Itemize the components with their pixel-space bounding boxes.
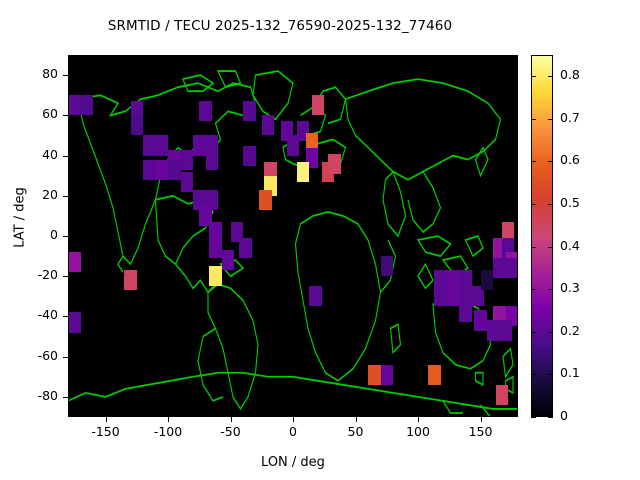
- colorbar-tick: [531, 247, 536, 248]
- x-tick: [231, 417, 232, 422]
- heatmap-cell: [168, 160, 181, 180]
- colorbar-tick-label: 0.8: [560, 67, 580, 82]
- x-tick-label: -100: [138, 424, 198, 439]
- colorbar-tick: [548, 119, 553, 120]
- heatmap-cell: [381, 256, 394, 276]
- y-tick: [63, 236, 68, 237]
- colorbar-tick-label: 0: [560, 408, 568, 423]
- colorbar-tick-label: 0.6: [560, 152, 580, 167]
- y-tick-label: -40: [18, 307, 58, 322]
- heatmap-cell: [381, 365, 394, 385]
- heatmap-cell: [487, 320, 500, 340]
- colorbar-tick: [548, 332, 553, 333]
- heatmap-cell: [81, 95, 94, 115]
- colorbar-tick: [548, 289, 553, 290]
- page-title: SRMTID / TECU 2025-132_76590-2025-132_77…: [0, 18, 560, 34]
- heatmap-cell: [68, 95, 81, 115]
- x-tick-label: 50: [326, 424, 386, 439]
- heatmap-cell: [206, 150, 219, 170]
- heatmap-cell: [428, 365, 441, 385]
- x-tick-label: -50: [201, 424, 261, 439]
- y-tick: [63, 196, 68, 197]
- colorbar-tick: [548, 247, 553, 248]
- x-tick-label: 0: [263, 424, 323, 439]
- colorbar-tick: [531, 417, 536, 418]
- heatmap-cell: [124, 270, 137, 290]
- y-tick: [63, 115, 68, 116]
- colorbar-tick: [531, 204, 536, 205]
- heatmap-cell: [143, 160, 156, 180]
- colorbar-tick: [531, 374, 536, 375]
- heatmap-plot-area: [68, 55, 518, 417]
- colorbar-tick: [548, 204, 553, 205]
- heatmap-cell: [156, 160, 169, 180]
- colorbar-tick: [548, 417, 553, 418]
- heatmap-cell: [309, 286, 322, 306]
- y-tick-label: -60: [18, 348, 58, 363]
- heatmap-cell: [459, 302, 472, 322]
- y-tick: [63, 397, 68, 398]
- heatmap-cell: [481, 270, 494, 290]
- x-tick-label: -150: [76, 424, 136, 439]
- x-tick-label: 150: [451, 424, 511, 439]
- heatmap-cell: [297, 162, 310, 182]
- y-axis-title: LAT / deg: [13, 163, 28, 273]
- colorbar-tick: [531, 332, 536, 333]
- x-tick: [168, 417, 169, 422]
- x-axis-title: LON / deg: [68, 455, 518, 470]
- heatmap-cell: [156, 135, 169, 155]
- heatmap-cell: [328, 154, 341, 174]
- colorbar-tick: [531, 161, 536, 162]
- colorbar-tick-label: 0.5: [560, 195, 580, 210]
- heatmap-cell: [287, 135, 300, 155]
- heatmap-cell: [499, 320, 512, 340]
- colorbar-tick-label: 0.2: [560, 323, 580, 338]
- heatmap-cell: [209, 266, 222, 286]
- heatmap-cell: [68, 312, 81, 332]
- x-tick: [293, 417, 294, 422]
- chart-root: SRMTID / TECU 2025-132_76590-2025-132_77…: [0, 0, 640, 480]
- y-tick-label: 40: [18, 147, 58, 162]
- y-tick-label: 80: [18, 66, 58, 81]
- heatmap-cell: [181, 172, 194, 192]
- colorbar-tick: [548, 76, 553, 77]
- heatmap-cell: [259, 190, 272, 210]
- x-tick: [481, 417, 482, 422]
- x-tick: [356, 417, 357, 422]
- heatmap-cell: [209, 238, 222, 258]
- heatmap-cell: [239, 238, 252, 258]
- heatmap-cell: [131, 115, 144, 135]
- x-tick-label: 100: [388, 424, 448, 439]
- colorbar-tick: [531, 76, 536, 77]
- heatmap-cell: [312, 95, 325, 115]
- y-tick-label: 60: [18, 106, 58, 121]
- y-tick: [63, 156, 68, 157]
- colorbar-tick-label: 0.7: [560, 110, 580, 125]
- y-tick: [63, 316, 68, 317]
- heatmap-cell: [496, 385, 509, 405]
- colorbar-tick: [531, 289, 536, 290]
- heatmap-cell: [143, 135, 156, 155]
- heatmap-cell: [474, 310, 487, 330]
- heatmap-cell: [493, 258, 506, 278]
- y-tick: [63, 276, 68, 277]
- y-tick: [63, 357, 68, 358]
- heatmap-cell: [434, 286, 447, 306]
- colorbar-tick-label: 0.1: [560, 365, 580, 380]
- heatmap-cell: [222, 250, 235, 270]
- colorbar-tick: [548, 374, 553, 375]
- colorbar-tick-label: 0.4: [560, 238, 580, 253]
- heatmap-cell: [181, 150, 194, 170]
- heatmap-cell: [199, 101, 212, 121]
- heatmap-cell: [243, 146, 256, 166]
- colorbar-tick-label: 0.3: [560, 280, 580, 295]
- colorbar: [531, 55, 553, 417]
- colorbar-tick: [531, 119, 536, 120]
- heatmap-cell: [262, 115, 275, 135]
- heatmap-cell: [447, 286, 460, 306]
- x-tick: [418, 417, 419, 422]
- heatmap-cell: [368, 365, 381, 385]
- y-tick: [63, 75, 68, 76]
- x-tick: [106, 417, 107, 422]
- heatmap-cell: [506, 258, 519, 278]
- colorbar-tick: [548, 161, 553, 162]
- heatmap-cell: [68, 252, 81, 272]
- heatmap-cell: [193, 135, 206, 155]
- heatmap-cell: [243, 101, 256, 121]
- y-tick-label: -80: [18, 388, 58, 403]
